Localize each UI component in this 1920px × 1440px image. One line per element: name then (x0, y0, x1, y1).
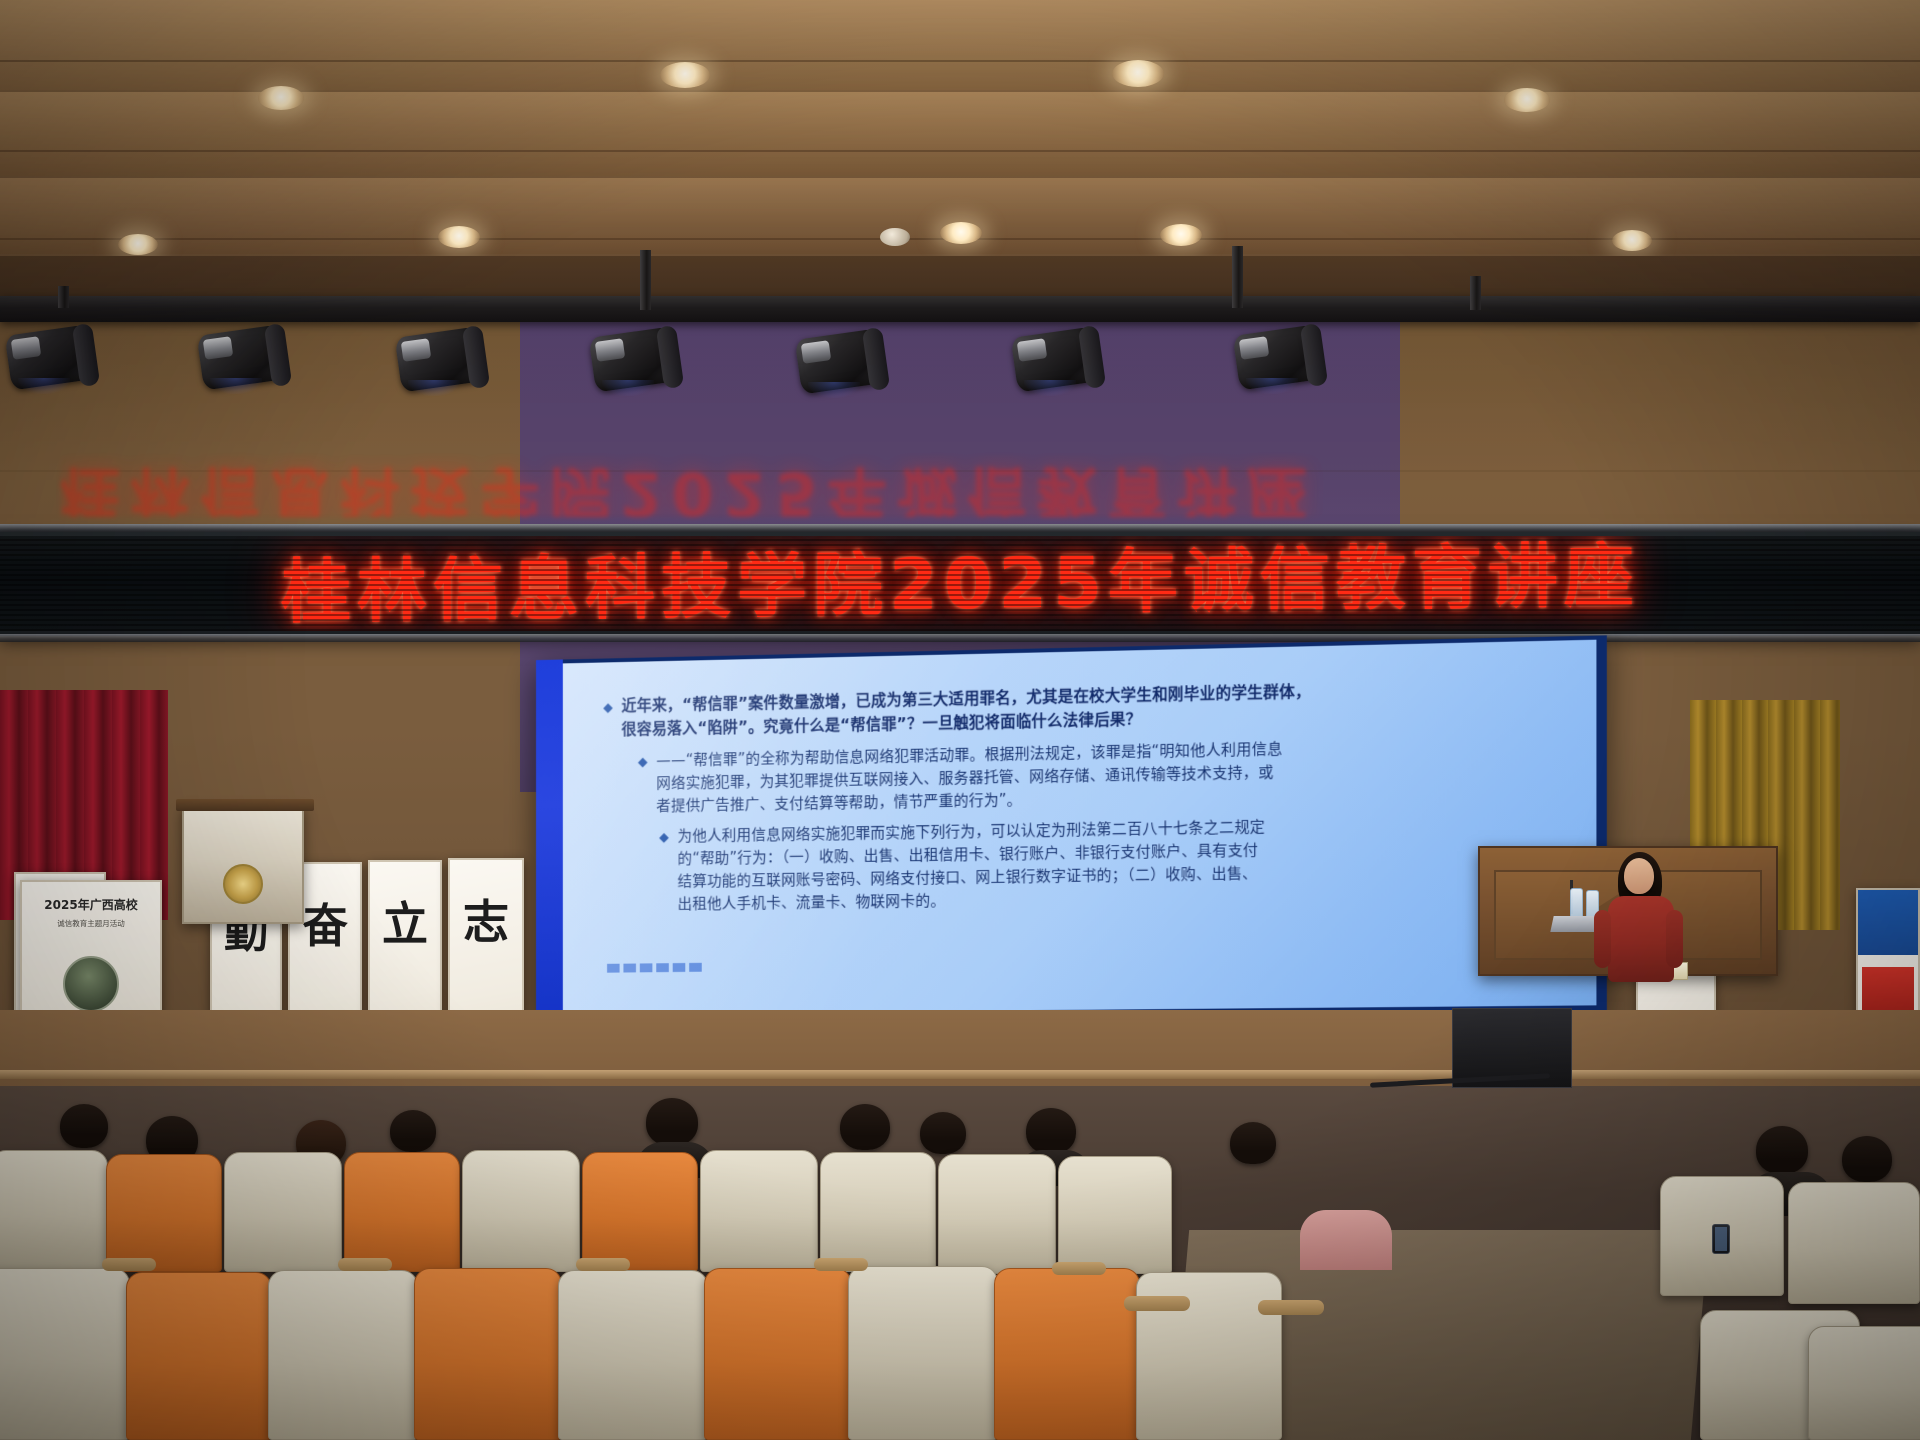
smartphone[interactable] (1712, 1224, 1730, 1254)
audience-head (1026, 1108, 1076, 1154)
ceiling-downlight (438, 226, 480, 248)
par-can-light (200, 322, 290, 390)
auditorium-seat[interactable] (1808, 1326, 1920, 1440)
podium-top-surface (176, 799, 314, 811)
smoke-detector-icon (880, 228, 910, 246)
speaker-arm-right (1666, 910, 1683, 968)
par-can-light (8, 322, 98, 390)
auditorium-seat[interactable] (0, 1150, 108, 1270)
auditorium-seat[interactable] (848, 1266, 998, 1440)
audience-head (840, 1104, 890, 1150)
led-banner-reflection: 桂林信息科技学院2025年诚信教育讲座 (60, 455, 1820, 517)
bullet-diamond-icon: ◆ (603, 700, 613, 716)
speaker-torso (1608, 896, 1674, 982)
bullet-text: ——“帮信罪”的全称为帮助信息网络犯罪活动罪。根据刑法规定，该罪是指“明知他人利… (656, 738, 1282, 817)
poster-title: 2025年广西高校 (22, 896, 160, 913)
auditorium-seat[interactable] (700, 1150, 818, 1272)
auditorium-seat[interactable] (224, 1152, 342, 1272)
auditorium-seat[interactable] (126, 1272, 272, 1440)
auditorium-seat[interactable] (582, 1152, 698, 1272)
auditorium-seat[interactable] (462, 1150, 580, 1272)
bullet-diamond-icon: ◆ (659, 830, 669, 846)
auditorium-seat[interactable] (106, 1154, 222, 1272)
led-banner-text: 桂林信息科技学院2025年诚信教育讲座 (281, 540, 1640, 627)
ceiling-downlight (940, 222, 982, 244)
led-headline-banner: 桂林信息科技学院2025年诚信教育讲座 (0, 532, 1920, 636)
par-can-light (1236, 322, 1326, 390)
poster-speaker-photo (63, 956, 119, 1012)
seat-armrest (102, 1258, 156, 1271)
audience-head (60, 1104, 108, 1148)
auditorium-seat[interactable] (938, 1154, 1056, 1274)
seat-armrest (338, 1258, 392, 1271)
seat-armrest (1258, 1300, 1324, 1315)
slide-content: ◆ 近年来，“帮信罪”案件数量激增，已成为第三大适用罪名，尤其是在校大学生和刚毕… (563, 640, 1597, 936)
seat-armrest (576, 1258, 630, 1271)
seat-armrest (1052, 1262, 1106, 1275)
slide-bullet: ◆ ——“帮信罪”的全称为帮助信息网络犯罪活动罪。根据刑法规定，该罪是指“明知他… (638, 732, 1565, 817)
speaker-head (1624, 858, 1654, 894)
ceiling-downlight (258, 86, 304, 110)
par-can-light (398, 324, 488, 392)
ceiling-downlight (660, 62, 710, 88)
slide-bullet: ◆ 近年来，“帮信罪”案件数量激增，已成为第三大适用罪名，尤其是在校大学生和刚毕… (603, 675, 1565, 742)
seat-armrest (1124, 1296, 1190, 1311)
auditorium-seat[interactable] (268, 1270, 418, 1440)
par-can-light (798, 326, 888, 394)
bullet-diamond-icon: ◆ (638, 754, 648, 770)
ceiling-downlight (1504, 88, 1550, 112)
audience-head (390, 1110, 436, 1152)
bullet-text: 近年来，“帮信罪”案件数量激增，已成为第三大适用罪名，尤其是在校大学生和刚毕业的… (622, 681, 1311, 742)
auditorium-seat[interactable] (0, 1268, 130, 1440)
auditorium-seat[interactable] (820, 1152, 936, 1272)
bullet-text: 为他人利用信息网络实施犯罪而实施下列行为，可以认定为刑法第二百八十七条之二规定 … (678, 816, 1266, 915)
par-can-light (1014, 324, 1104, 392)
slide-surface: ◆ 近年来，“帮信罪”案件数量激增，已成为第三大适用罪名，尤其是在校大学生和刚毕… (563, 640, 1597, 1015)
ceiling-downlight (1612, 230, 1652, 251)
audience-head (1756, 1126, 1808, 1174)
poster-subtitle: 诚信教育主题月活动 (22, 918, 160, 929)
audience-head (646, 1098, 698, 1146)
auditorium-seat[interactable] (994, 1268, 1140, 1440)
audience-head (1842, 1136, 1892, 1182)
auditorium-seat[interactable] (344, 1152, 460, 1272)
ceiling-downlight (1160, 224, 1202, 246)
auditorium-seat[interactable] (704, 1268, 852, 1440)
slide-bullet: ◆ 为他人利用信息网络实施犯罪而实施下列行为，可以认定为刑法第二百八十七条之二规… (659, 811, 1565, 915)
ceiling-downlight (1112, 60, 1164, 87)
calligraphy-char: 立 (370, 888, 440, 954)
auditorium-seat[interactable] (1788, 1182, 1920, 1304)
lecture-hall-photo: 桂林信息科技学院2025年诚信教育讲座 桂林信息科技学院2025年诚信教育讲座 … (0, 0, 1920, 1440)
par-can-light (592, 324, 682, 392)
ceiling-downlight (118, 234, 158, 255)
slide-footer-marks (607, 963, 702, 973)
calligraphy-char: 志 (450, 886, 522, 952)
auditorium-seat[interactable] (414, 1268, 562, 1440)
projection-screen[interactable]: ◆ 近年来，“帮信罪”案件数量激增，已成为第三大适用罪名，尤其是在校大学生和刚毕… (536, 635, 1607, 1022)
seat-armrest (814, 1258, 868, 1271)
led-reflection-text: 桂林信息科技学院2025年诚信教育讲座 (60, 455, 1820, 517)
audience-head (920, 1112, 966, 1154)
auditorium-seat[interactable] (1058, 1156, 1172, 1274)
lectern-podium (182, 806, 304, 924)
speaker-arm-left (1594, 910, 1611, 968)
slide-left-accent-bar (536, 659, 563, 1022)
audience-head (1230, 1122, 1276, 1164)
lighting-truss (0, 296, 1920, 322)
audience-shoulders (1300, 1210, 1392, 1270)
school-crest-icon (223, 864, 263, 904)
auditorium-seat[interactable] (558, 1270, 708, 1440)
